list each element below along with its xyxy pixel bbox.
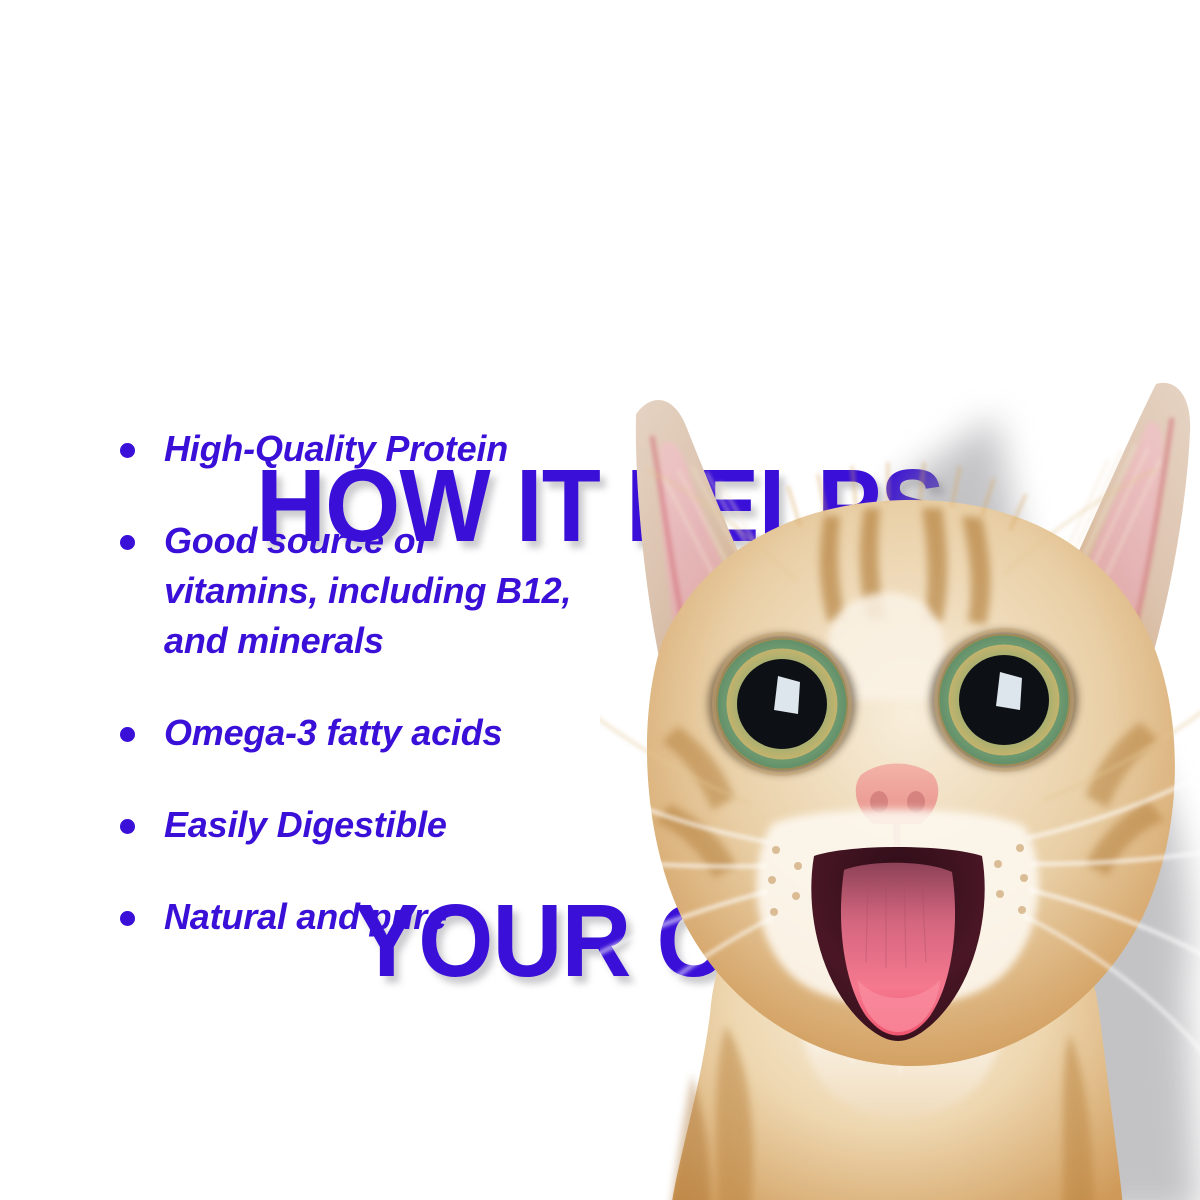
list-item: Natural and pure: [112, 892, 582, 942]
cat-photo: [600, 374, 1200, 1200]
benefits-list: High-Quality Protein Good source of vita…: [112, 424, 582, 942]
poster-canvas: HOW IT HELPS YOUR CAT High-Quality Prote…: [0, 0, 1200, 1200]
cat-illustration: [600, 374, 1200, 1200]
list-item-label: Natural and pure: [164, 892, 582, 942]
bullet-dot-icon: [120, 727, 135, 742]
list-item-label: Easily Digestible: [164, 800, 582, 850]
list-item: Good source of vitamins, including B12, …: [112, 516, 582, 666]
bullet-dot-icon: [120, 819, 135, 834]
cat-eye-right: [930, 630, 1078, 770]
list-item: Easily Digestible: [112, 800, 582, 850]
list-item: High-Quality Protein: [112, 424, 582, 474]
bullet-dot-icon: [120, 443, 135, 458]
cat-head: [647, 500, 1175, 1066]
list-item: Omega-3 fatty acids: [112, 708, 582, 758]
list-item-label: Omega-3 fatty acids: [164, 708, 582, 758]
cat-eye-left: [708, 634, 856, 774]
bullet-dot-icon: [120, 535, 135, 550]
bullet-dot-icon: [120, 911, 135, 926]
list-item-label: Good source of vitamins, including B12, …: [164, 516, 582, 666]
list-item-label: High-Quality Protein: [164, 424, 582, 474]
